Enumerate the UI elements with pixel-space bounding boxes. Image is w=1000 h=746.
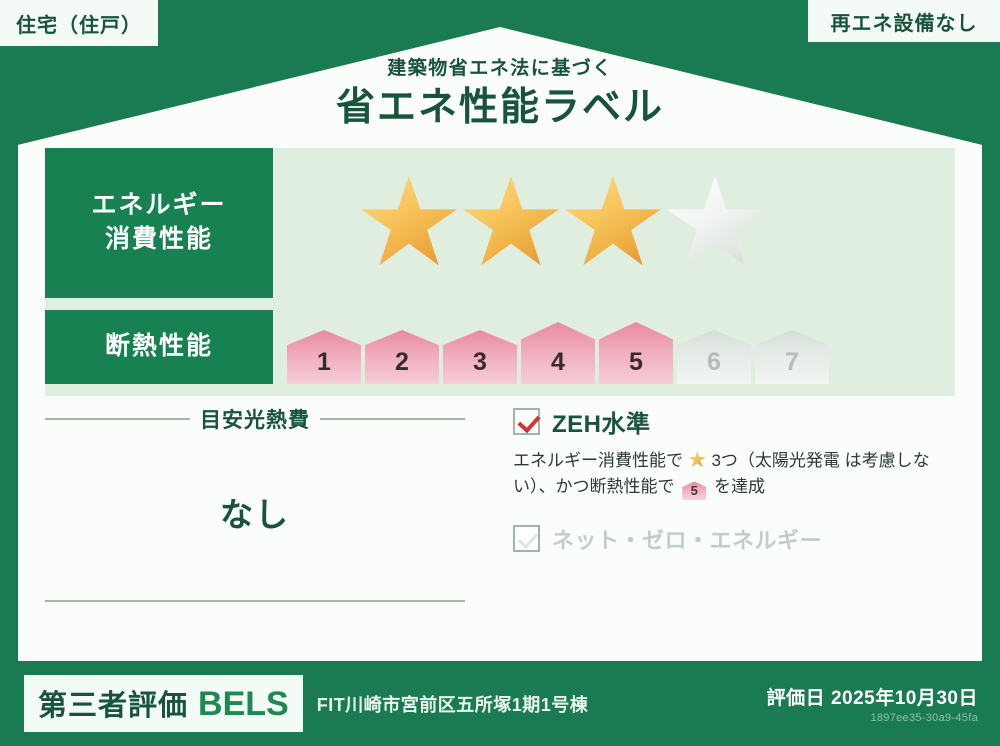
star-icon-inline: [689, 451, 706, 468]
star-icon-2: [463, 176, 559, 270]
energy-star-rating: [273, 148, 955, 298]
utility-cost-heading: 目安光熱費: [45, 404, 505, 434]
utility-cost-section: 目安光熱費 なし: [45, 404, 505, 634]
insulation-chip-2: 2: [365, 330, 439, 384]
zeh-description-star-count: 3つ（太陽光発電: [711, 451, 839, 470]
utility-cost-value: なし: [45, 488, 505, 536]
zeh-description: エネルギー消費性能で 3つ（太陽光発電 は考慮しない）、かつ断熱性能で 5 を達…: [513, 448, 955, 501]
insulation-chip-7: 7: [755, 330, 829, 384]
evaluation-date: 評価日 2025年10月30日: [767, 683, 978, 710]
zeh-description-part1: エネルギー消費性能で: [513, 451, 683, 470]
lower-section: 目安光熱費 なし ZEH水準 エネルギー消費性能で 3つ（太陽光発電 は考慮しな…: [45, 404, 955, 634]
performance-panel: エネルギー 消費性能 断熱性能 1 2 3 4 5 6 7: [45, 148, 955, 396]
insulation-chip-5: 5: [599, 322, 673, 384]
label-title-block: 建築物省エネ法に基づく 省エネ性能ラベル: [0, 58, 1000, 133]
energy-performance-label-line1: エネルギー: [91, 189, 226, 223]
bels-badge: 第三者評価 BELS: [24, 675, 303, 732]
zeh-section: ZEH水準 エネルギー消費性能で 3つ（太陽光発電 は考慮しない）、かつ断熱性能…: [505, 404, 955, 634]
energy-performance-label-line2: 消費性能: [105, 223, 213, 257]
title-subtitle: 建築物省エネ法に基づく: [0, 58, 1000, 81]
net-zero-energy-row: ネット・ゼロ・エネルギー: [513, 523, 955, 555]
utility-cost-heading-text: 目安光熱費: [200, 404, 310, 434]
divider-right: [320, 418, 465, 420]
insulation-chip-4: 4: [521, 322, 595, 384]
checkbox-checked-icon[interactable]: [513, 408, 540, 435]
zeh-description-part3: を達成: [714, 477, 765, 496]
bels-badge-jp-label: 第三者評価: [38, 682, 188, 724]
energy-performance-row: エネルギー 消費性能: [45, 148, 955, 298]
bels-badge-logo: BELS: [198, 685, 289, 724]
page-title: 省エネ性能ラベル: [0, 84, 1000, 133]
star-icon-4: [667, 176, 763, 270]
checkbox-unchecked-icon[interactable]: [513, 525, 540, 552]
property-name: FIT川崎市宮前区五所塚1期1号棟: [317, 691, 589, 717]
zeh-standard-row: ZEH水準: [513, 404, 955, 439]
insulation-performance-label-text: 断熱性能: [105, 330, 213, 364]
insulation-chip-1: 1: [287, 330, 361, 384]
star-icon-3: [565, 176, 661, 270]
divider-left: [45, 418, 190, 420]
insulation-performance-row: 断熱性能 1 2 3 4 5 6 7: [45, 310, 955, 384]
badge-renewable-equipment: 再エネ設備なし: [808, 0, 1000, 42]
footer: 第三者評価 BELS FIT川崎市宮前区五所塚1期1号棟 評価日 2025年10…: [0, 661, 1000, 746]
insulation-chip-3: 3: [443, 330, 517, 384]
insulation-level-scale: 1 2 3 4 5 6 7: [273, 310, 955, 384]
star-icon-1: [361, 176, 457, 270]
evaluation-id: 1897ee35-30a9-45fa: [767, 712, 978, 724]
badge-building-type: 住宅（住戸）: [0, 0, 158, 46]
insulation-chip-6: 6: [677, 330, 751, 384]
net-zero-energy-label: ネット・ゼロ・エネルギー: [552, 523, 822, 555]
footer-meta: 評価日 2025年10月30日 1897ee35-30a9-45fa: [767, 683, 978, 724]
zeh-standard-label: ZEH水準: [552, 404, 651, 439]
insulation-chip-inline: 5: [682, 481, 706, 500]
insulation-performance-label: 断熱性能: [45, 310, 273, 384]
utility-cost-bottom-divider: [45, 600, 465, 602]
energy-performance-label: エネルギー 消費性能: [45, 148, 273, 298]
